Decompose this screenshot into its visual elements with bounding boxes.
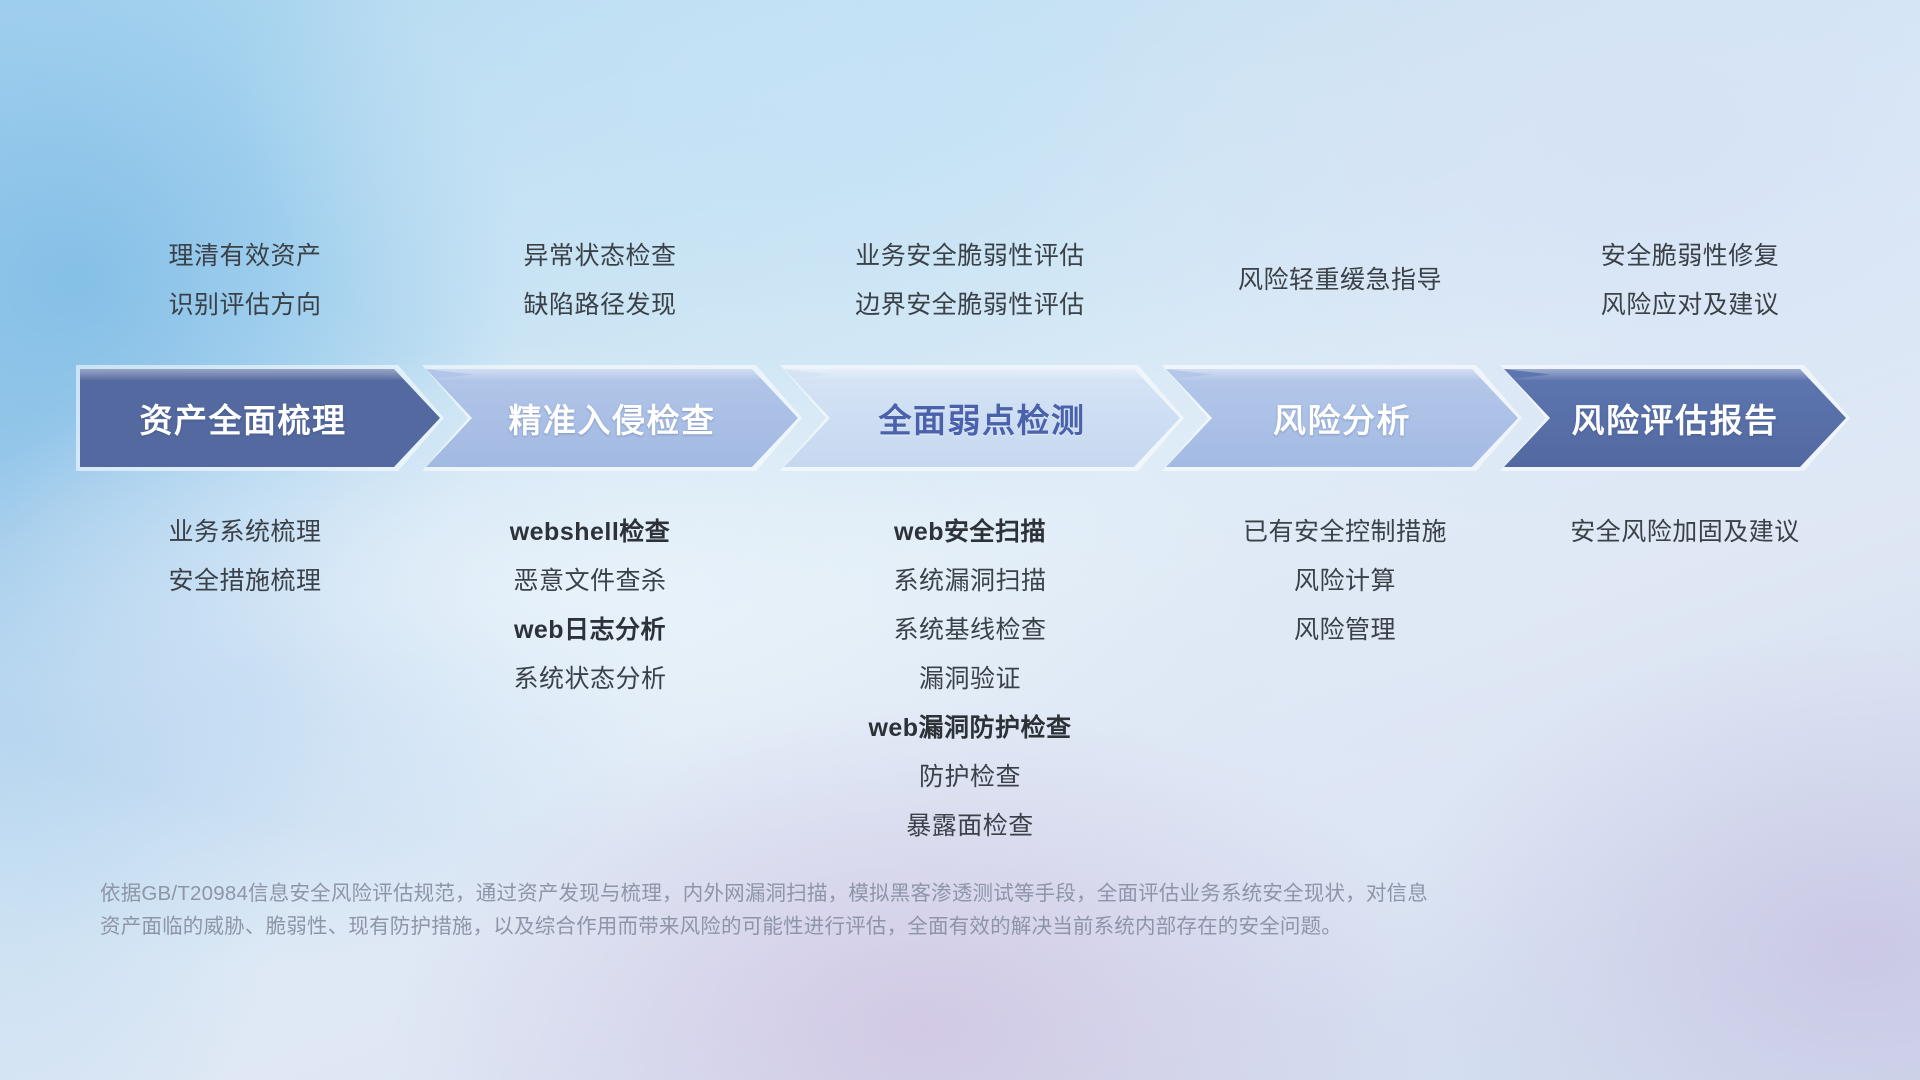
bottom-items-asset-inventory: 业务系统梳理 安全措施梳理 xyxy=(80,508,410,606)
chevron-label: 精准入侵检查 xyxy=(509,394,716,442)
chevron-label: 全面弱点检测 xyxy=(879,394,1086,442)
top-item: 业务安全脆弱性评估 xyxy=(760,232,1180,281)
chevron-step-asset-inventory[interactable]: 资产全面梳理 xyxy=(80,369,440,467)
footnote-line-1: 依据GB/T20984信息安全风险评估规范，通过资产发现与梳理，内外网漏洞扫描，… xyxy=(100,877,1630,910)
chevron-step-risk-analysis[interactable]: 风险分析 xyxy=(1166,369,1518,467)
bottom-item: web漏洞防护检查 xyxy=(750,704,1190,753)
bottom-item: 系统基线检查 xyxy=(750,606,1190,655)
chevron-label: 风险评估报告 xyxy=(1572,394,1779,442)
bottom-item: 恶意文件查杀 xyxy=(410,557,770,606)
top-items-assessment-report: 安全脆弱性修复 风险应对及建议 xyxy=(1480,232,1900,330)
bottom-item: 安全措施梳理 xyxy=(80,557,410,606)
bottom-item: 系统状态分析 xyxy=(410,655,770,704)
bottom-items-intrusion-check: webshell检查 恶意文件查杀 web日志分析 系统状态分析 xyxy=(410,508,770,704)
bottom-item: web日志分析 xyxy=(410,606,770,655)
top-item: 识别评估方向 xyxy=(80,281,410,330)
slide-canvas: 理清有效资产 识别评估方向 异常状态检查 缺陷路径发现 业务安全脆弱性评估 边界… xyxy=(0,0,1920,1080)
footnote-line-2: 资产面临的威胁、脆弱性、现有防护措施，以及综合作用而带来风险的可能性进行评估，全… xyxy=(100,910,1630,943)
chevron-step-weakness-detection[interactable]: 全面弱点检测 xyxy=(784,369,1180,467)
top-item: 安全脆弱性修复 xyxy=(1480,232,1900,281)
top-item: 风险应对及建议 xyxy=(1480,281,1900,330)
bottom-item: 业务系统梳理 xyxy=(80,508,410,557)
chevron-label: 风险分析 xyxy=(1273,394,1411,442)
top-items-asset-inventory: 理清有效资产 识别评估方向 xyxy=(80,232,410,330)
chevron-label: 资产全面梳理 xyxy=(140,394,347,442)
bottom-item: webshell检查 xyxy=(410,508,770,557)
chevron-step-intrusion-check[interactable]: 精准入侵检查 xyxy=(426,369,798,467)
bottom-items-assessment-report: 安全风险加固及建议 xyxy=(1450,508,1920,557)
bottom-item: web安全扫描 xyxy=(750,508,1190,557)
bottom-item: 漏洞验证 xyxy=(750,655,1190,704)
top-item: 异常状态检查 xyxy=(435,232,765,281)
bottom-item: 暴露面检查 xyxy=(750,802,1190,851)
top-items-weakness-detection: 业务安全脆弱性评估 边界安全脆弱性评估 xyxy=(760,232,1180,330)
top-item: 理清有效资产 xyxy=(80,232,410,281)
bottom-item: 安全风险加固及建议 xyxy=(1450,508,1920,557)
bottom-item: 防护检查 xyxy=(750,753,1190,802)
top-item: 边界安全脆弱性评估 xyxy=(760,281,1180,330)
process-chevron-banner: 资产全面梳理 精准入侵检查 全面弱点检测 风险分析 风险评估报告 xyxy=(80,369,1846,467)
top-item: 缺陷路径发现 xyxy=(435,281,765,330)
chevron-step-assessment-report[interactable]: 风险评估报告 xyxy=(1504,369,1846,467)
bottom-item: 风险计算 xyxy=(1125,557,1565,606)
bottom-item: 风险管理 xyxy=(1125,606,1565,655)
bottom-item: 系统漏洞扫描 xyxy=(750,557,1190,606)
bottom-items-weakness-detection: web安全扫描 系统漏洞扫描 系统基线检查 漏洞验证 web漏洞防护检查 防护检… xyxy=(750,508,1190,851)
top-items-intrusion-check: 异常状态检查 缺陷路径发现 xyxy=(435,232,765,330)
footnote: 依据GB/T20984信息安全风险评估规范，通过资产发现与梳理，内外网漏洞扫描，… xyxy=(100,877,1630,943)
